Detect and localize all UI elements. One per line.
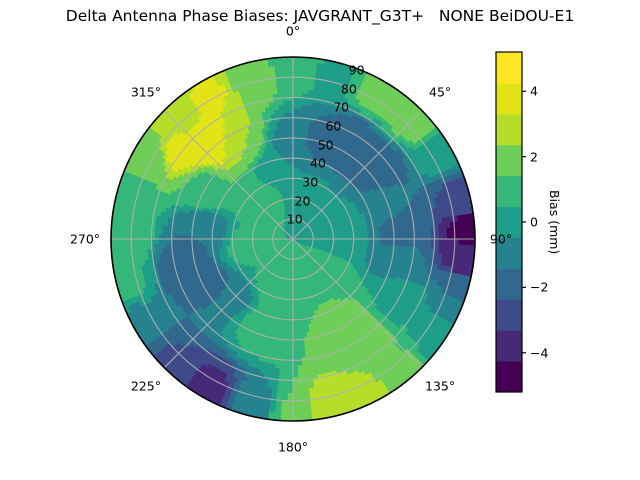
r-tick-label-30: 30	[302, 174, 318, 189]
theta-tick-label-135: 135°	[425, 379, 455, 394]
r-tick-label-10: 10	[287, 212, 303, 227]
r-tick-label-20: 20	[295, 193, 311, 208]
colorbar-tick-label: −2	[530, 280, 548, 295]
r-tick-label-40: 40	[310, 156, 326, 171]
colorbar-tick-label: 0	[530, 215, 538, 230]
colorbar-title: Bias (mm)	[547, 190, 562, 254]
r-tick-label-90: 90	[349, 62, 365, 77]
r-tick-label-80: 80	[341, 81, 357, 96]
colorbar	[496, 52, 522, 393]
r-tick-label-60: 60	[325, 118, 341, 133]
polar-grid	[111, 57, 475, 421]
colorbar-tick-label: 4	[530, 84, 538, 99]
r-tick-label-70: 70	[333, 100, 349, 115]
theta-tick-label-45: 45°	[429, 84, 451, 99]
figure-canvas: Delta Antenna Phase Biases: JAVGRANT_G3T…	[0, 0, 640, 480]
theta-tick-label-0: 0°	[286, 24, 300, 39]
r-tick-label-50: 50	[318, 137, 334, 152]
theta-tick-label-270: 270°	[70, 232, 100, 247]
colorbar-tick-label: −4	[530, 345, 548, 360]
theta-tick-label-90: 90°	[490, 232, 512, 247]
page-title: Delta Antenna Phase Biases: JAVGRANT_G3T…	[0, 7, 640, 25]
colorbar-tick-label: 2	[530, 149, 538, 164]
theta-tick-label-315: 315°	[131, 84, 161, 99]
theta-tick-label-225: 225°	[131, 379, 161, 394]
theta-tick-label-180: 180°	[278, 440, 308, 455]
